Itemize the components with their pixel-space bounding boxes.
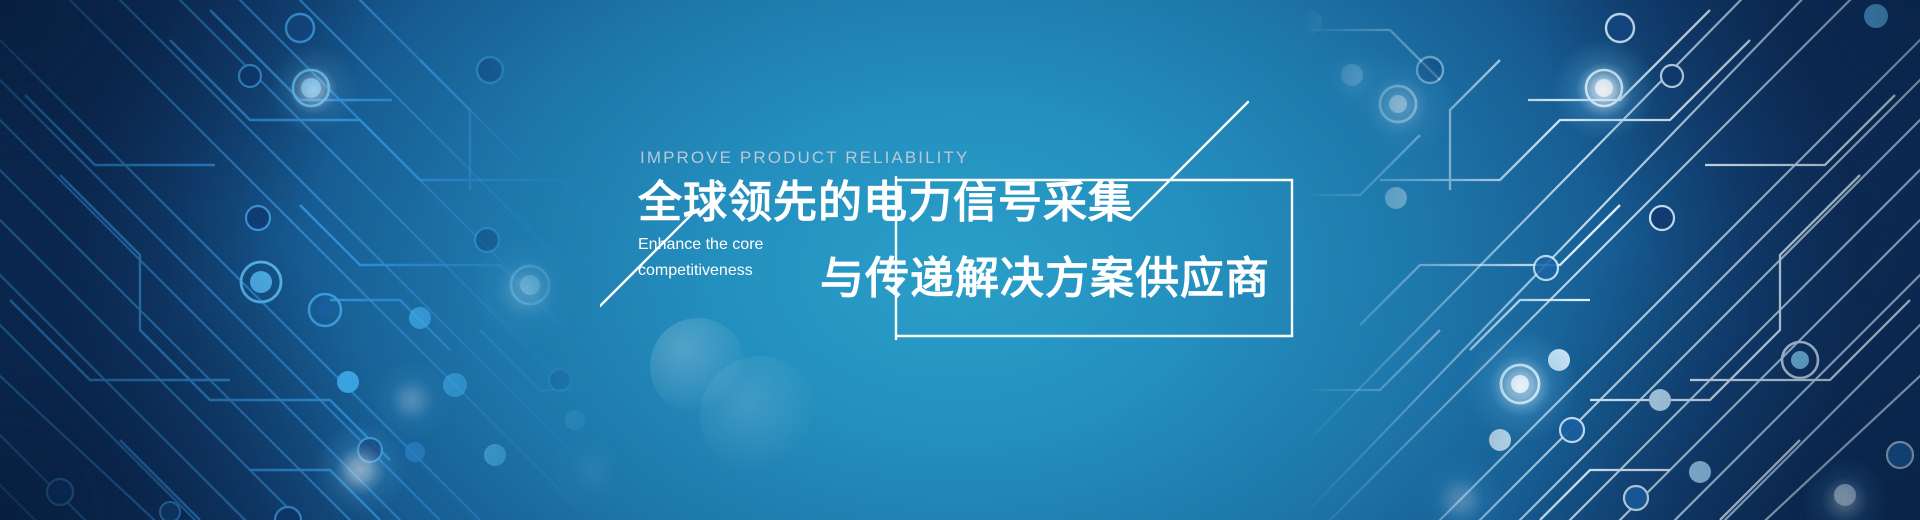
subtitle-line-1: Enhance the core bbox=[638, 232, 806, 258]
subtitle: Enhance the core competitiveness bbox=[638, 232, 806, 284]
hero-banner: IMPROVE PRODUCT RELIABILITY 全球领先的电力信号采集 … bbox=[0, 0, 1920, 520]
hero-copy: IMPROVE PRODUCT RELIABILITY 全球领先的电力信号采集 … bbox=[638, 148, 1358, 306]
subtitle-line-2: competitiveness bbox=[638, 258, 806, 284]
headline-line-2: 与传递解决方案供应商 bbox=[820, 252, 1358, 306]
eyebrow-text: IMPROVE PRODUCT RELIABILITY bbox=[640, 148, 1358, 168]
headline-line-1: 全球领先的电力信号采集 bbox=[638, 176, 1358, 230]
